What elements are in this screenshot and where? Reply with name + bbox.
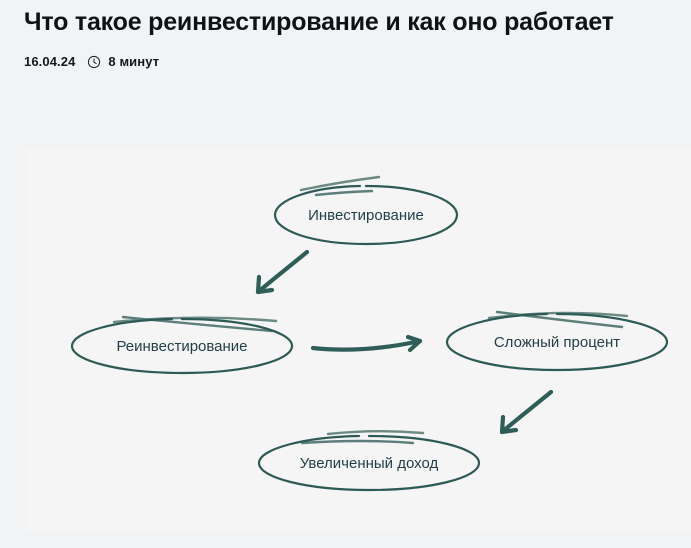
publish-date: 16.04.24 bbox=[24, 54, 75, 69]
node-compound: Сложный процент bbox=[447, 312, 667, 370]
node-investing: Инвестирование bbox=[275, 177, 457, 244]
page-title: Что такое реинвестирование и как оно раб… bbox=[24, 6, 624, 38]
arrow-investing-to-reinvesting bbox=[258, 252, 307, 292]
article-page: Что такое реинвестирование и как оно раб… bbox=[0, 0, 691, 548]
node-label-reinvesting: Реинвестирование bbox=[116, 338, 247, 355]
sketch-overshoot-stroke bbox=[316, 191, 372, 195]
node-label-increased-yield: Увеличенный доход bbox=[300, 455, 439, 472]
arrow-reinvesting-to-compound bbox=[313, 337, 420, 350]
arrow-compound-to-yield bbox=[502, 392, 551, 432]
node-reinvesting: Реинвестирование bbox=[72, 317, 292, 373]
arrow-shaft bbox=[502, 392, 551, 432]
reinvestment-cycle-diagram: Инвестирование Реинвестирование Сл bbox=[26, 147, 691, 532]
article-meta: 16.04.24 8 минут bbox=[24, 54, 664, 69]
article-header: Что такое реинвестирование и как оно раб… bbox=[24, 6, 664, 69]
clock-icon bbox=[87, 55, 101, 69]
node-increased-yield: Увеличенный доход bbox=[259, 431, 479, 490]
reading-time: 8 минут bbox=[87, 54, 159, 69]
arrow-shaft bbox=[313, 341, 420, 350]
sketch-overshoot-stroke bbox=[302, 441, 413, 443]
node-label-investing: Инвестирование bbox=[308, 207, 424, 224]
arrow-shaft bbox=[258, 252, 307, 292]
node-label-compound: Сложный процент bbox=[494, 334, 620, 351]
reading-time-label: 8 минут bbox=[108, 54, 159, 69]
sketch-overshoot-stroke bbox=[328, 431, 423, 434]
diagram-panel: Инвестирование Реинвестирование Сл bbox=[26, 147, 691, 532]
